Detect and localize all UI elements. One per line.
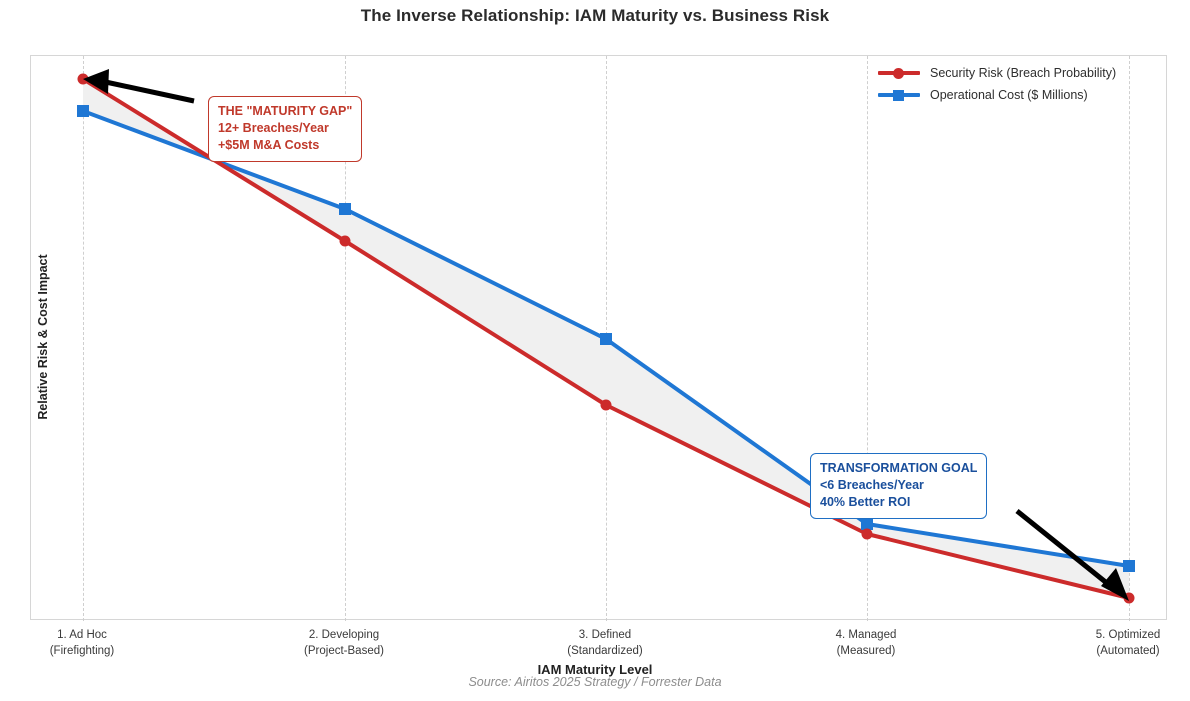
x-tick-line2: (Automated) — [1038, 644, 1190, 660]
chart-title: The Inverse Relationship: IAM Maturity v… — [0, 6, 1190, 26]
annotation-line: 40% Better ROI — [820, 494, 977, 511]
annotation-transformation-goal: TRANSFORMATION GOAL <6 Breaches/Year 40%… — [810, 453, 987, 519]
legend-item-security-risk[interactable]: Security Risk (Breach Probability) — [878, 62, 1168, 84]
legend-marker-circle-icon — [878, 66, 920, 80]
x-tick-line1: 1. Ad Hoc — [57, 629, 107, 641]
chart-container: The Inverse Relationship: IAM Maturity v… — [0, 0, 1190, 701]
x-tick-line2: (Firefighting) — [0, 644, 172, 660]
x-tick-label-1: 1. Ad Hoc (Firefighting) — [0, 628, 172, 659]
x-tick-line1: 5. Optimized — [1096, 629, 1161, 641]
x-tick-line1: 2. Developing — [309, 629, 379, 641]
annotation-line: +$5M M&A Costs — [218, 137, 352, 154]
legend-label: Security Risk (Breach Probability) — [930, 66, 1116, 80]
annotation-line: <6 Breaches/Year — [820, 477, 977, 494]
chart-legend: Security Risk (Breach Probability) Opera… — [878, 62, 1168, 106]
annotation-maturity-gap: THE "MATURITY GAP" 12+ Breaches/Year +$5… — [208, 96, 362, 162]
x-tick-line1: 4. Managed — [836, 629, 897, 641]
x-tick-label-2: 2. Developing (Project-Based) — [254, 628, 434, 659]
x-tick-line2: (Project-Based) — [254, 644, 434, 660]
x-tick-label-3: 3. Defined (Standardized) — [515, 628, 695, 659]
x-tick-label-4: 4. Managed (Measured) — [776, 628, 956, 659]
x-tick-line2: (Standardized) — [515, 644, 695, 660]
annotation-line: 12+ Breaches/Year — [218, 120, 352, 137]
x-tick-label-5: 5. Optimized (Automated) — [1038, 628, 1190, 659]
x-tick-line2: (Measured) — [776, 644, 956, 660]
annotation-line: TRANSFORMATION GOAL — [820, 460, 977, 477]
y-axis-label: Relative Risk & Cost Impact — [36, 177, 50, 497]
annotation-line: THE "MATURITY GAP" — [218, 103, 352, 120]
plot-area: Relative Risk & Cost Impact — [30, 55, 1167, 620]
legend-item-operational-cost[interactable]: Operational Cost ($ Millions) — [878, 84, 1168, 106]
legend-label: Operational Cost ($ Millions) — [930, 88, 1088, 102]
series-plot — [31, 56, 1166, 619]
legend-marker-square-icon — [878, 88, 920, 102]
source-caption: Source: Airitos 2025 Strategy / Forreste… — [0, 675, 1190, 689]
x-tick-line1: 3. Defined — [579, 629, 631, 641]
